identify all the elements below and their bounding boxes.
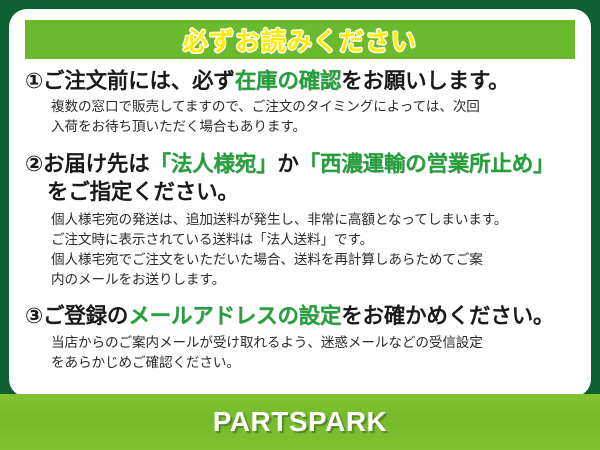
- section-2-heading: ②お届け先は「法人様宛」か「西濃運輸の営業所止め」をご指定ください。: [25, 150, 581, 207]
- section-1-body-line-2: 入荷をお待ち頂いただく場合もあります。: [51, 117, 581, 137]
- notice-body: ①ご注文前には、必ず在庫の確認をお願いします。 複数の窓口で販売してますので、ご…: [25, 67, 581, 375]
- section-1-body-line-1: 複数の窓口で販売してますので、ご注文のタイミングによっては、次回: [51, 97, 581, 117]
- section-3-body-line-1: 当店からのご案内メールが受け取れるよう、迷惑メールなどの受信設定: [51, 333, 581, 353]
- section-3-body: 当店からのご案内メールが受け取れるよう、迷惑メールなどの受信設定 をあらかじめご…: [25, 333, 581, 373]
- section-2-body: 個人様宅宛の発送は、追加送料が発生し、非常に高額となってしまいます。 ご注文時に…: [25, 210, 581, 290]
- section-1-heading: ①ご注文前には、必ず在庫の確認をお願いします。: [25, 67, 581, 96]
- section-3-body-line-2: をあらかじめご確認ください。: [51, 353, 581, 373]
- section-2-body-line-1: 個人様宅宛の発送は、追加送料が発生し、非常に高額となってしまいます。: [51, 210, 581, 230]
- section-1-heading-highlight: 在庫の確認: [235, 69, 342, 93]
- section-3-heading-part-3: をお確かめください。: [341, 304, 554, 328]
- section-1-heading-part-3: をお願いします。: [341, 69, 509, 93]
- section-1-marker: ①: [25, 69, 43, 93]
- section-2-heading-highlight-1: 「法人様宛」: [150, 152, 278, 176]
- section-3-heading-highlight: メールアドレスの設定: [128, 304, 341, 328]
- section-2-body-line-3: 個人様宅宛でご注文をいただいた場合、送料を再計算しあらためてご案: [51, 250, 581, 270]
- section-2-marker: ②: [25, 152, 43, 176]
- section-2-heading-part-3: か: [277, 152, 298, 176]
- header-band: 必ずお読みください: [25, 20, 575, 59]
- notice-section-2: ②お届け先は「法人様宛」か「西濃運輸の営業所止め」をご指定ください。 個人様宅宛…: [25, 150, 581, 291]
- section-1-body: 複数の窓口で販売してますので、ご注文のタイミングによっては、次回 入荷をお待ち頂…: [25, 97, 581, 137]
- section-2-heading-line-2: をご指定ください。: [25, 178, 581, 207]
- footer-band: PARTSPARK: [0, 394, 600, 450]
- section-2-body-line-2: ご注文時に表示されている送料は「法人送料」です。: [51, 230, 581, 250]
- section-3-marker: ③: [25, 304, 43, 328]
- section-3-heading: ③ご登録のメールアドレスの設定をお確かめください。: [25, 302, 581, 331]
- notice-section-1: ①ご注文前には、必ず在庫の確認をお願いします。 複数の窓口で販売してますので、ご…: [25, 67, 581, 137]
- notice-paper: 必ずお読みください ①ご注文前には、必ず在庫の確認をお願いします。 複数の窓口で…: [9, 9, 591, 397]
- section-1-heading-part-1: ご注文前には、必ず: [43, 69, 235, 93]
- section-2-body-line-4: 内のメールをお送りします。: [51, 270, 581, 290]
- brand-logo-text: PARTSPARK: [213, 406, 388, 438]
- section-3-heading-part-1: ご登録の: [43, 304, 128, 328]
- section-2-heading-part-1: お届け先は: [43, 152, 150, 176]
- notice-section-3: ③ご登録のメールアドレスの設定をお確かめください。 当店からのご案内メールが受け…: [25, 302, 581, 373]
- section-2-heading-highlight-2: 「西濃運輸の営業所止め」: [299, 152, 555, 176]
- notice-card: 必ずお読みください ①ご注文前には、必ず在庫の確認をお願いします。 複数の窓口で…: [0, 0, 600, 450]
- page-title: 必ずお読みください: [183, 22, 417, 58]
